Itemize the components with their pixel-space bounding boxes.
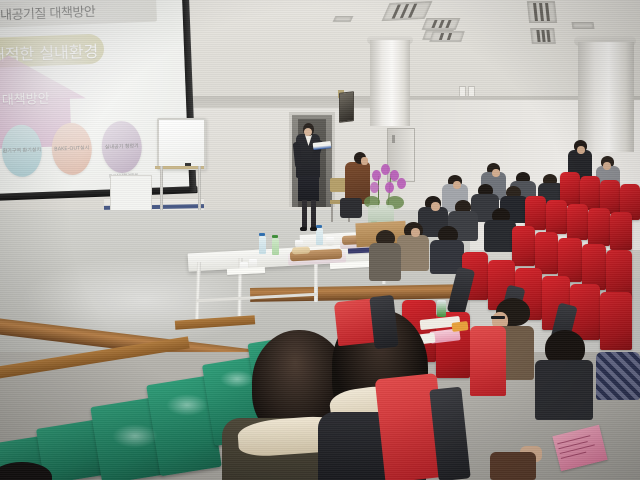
auditorium-seat[interactable]	[512, 226, 535, 266]
slide-header-bar: 실내공기질 대책방안	[0, 0, 157, 29]
chair-leg	[331, 204, 333, 222]
presenter-shoe	[310, 227, 317, 231]
auditorium-seat[interactable]	[600, 292, 632, 350]
slide-oval-2-label: 환기구역 환기설치	[3, 147, 42, 155]
auditorium-seat[interactable]	[610, 212, 632, 250]
slide-oval-4: 실내공기 청정기	[101, 120, 143, 173]
auditorium-seat[interactable]	[567, 204, 588, 240]
audience-torso	[535, 360, 593, 420]
audience-torso	[369, 243, 401, 281]
orchid-petal	[381, 164, 390, 175]
slide-oval-3-label: BAKE-OUT실시	[54, 145, 89, 153]
presenter-shoe	[300, 227, 307, 231]
secondary-board	[110, 175, 152, 213]
drink-can[interactable]	[437, 300, 446, 317]
column-right	[578, 42, 634, 152]
projection-screen-assembly: 실내공기질 대책방안 쾌적한 실내환경 실내공기질 대책방안 오염원 관리 환기…	[0, 0, 205, 213]
presenter-skirt	[298, 176, 319, 201]
wall-switch-plate[interactable]	[468, 86, 475, 97]
auditorium-seat[interactable]	[525, 196, 546, 230]
orchid-petal	[370, 182, 379, 193]
auditorium-seat[interactable]	[546, 200, 567, 234]
auditorium-seat[interactable]	[606, 250, 632, 298]
whiteboard-marker[interactable]	[185, 163, 191, 166]
audience-sleeve	[490, 452, 536, 480]
ceiling-light-fixture	[422, 18, 461, 30]
bottle-cap	[272, 235, 278, 238]
orchid-petal	[372, 170, 381, 181]
seated-person-legs	[340, 198, 362, 218]
water-bottle[interactable]	[272, 238, 279, 255]
ceiling-light-fixture	[572, 22, 595, 29]
seat-wear-mark	[220, 370, 254, 388]
ceiling-light-fixture	[333, 16, 354, 22]
water-bottle[interactable]	[259, 236, 266, 254]
presenter-face	[304, 128, 312, 136]
auditorium-seat[interactable]	[470, 326, 506, 396]
ceiling-light-fixture	[530, 28, 556, 44]
wall-switch-plate[interactable]	[459, 86, 466, 97]
seated-person-face	[361, 157, 368, 165]
audience-torso	[397, 235, 429, 271]
wall-speaker	[339, 91, 354, 123]
bottle-cap	[259, 233, 265, 236]
orchid-petal	[397, 178, 406, 189]
cabinet-hinge	[392, 135, 395, 143]
auditorium-seat[interactable]	[588, 208, 610, 246]
snack-pack[interactable]	[452, 321, 469, 332]
presenter-leg	[311, 200, 316, 228]
audience-face	[577, 146, 585, 154]
audience-face	[431, 202, 440, 211]
audience-face	[411, 228, 420, 237]
food-items	[292, 246, 310, 254]
presenter-leg	[302, 200, 307, 228]
audience-face	[453, 181, 461, 189]
eyeglasses	[491, 316, 505, 319]
auditorium-photograph: 발표회 표회 국대학교 환경공학과 실내공기질 대책방안 쾌적한 실내환경 실내…	[0, 0, 640, 480]
slide-header-text: 실내공기질 대책방안	[0, 1, 96, 24]
water-bottle[interactable]	[316, 228, 323, 245]
patterned-bag[interactable]	[596, 352, 640, 400]
whiteboard	[157, 118, 206, 170]
seat-wear-mark	[112, 424, 158, 448]
orchid-petal	[385, 182, 394, 193]
ceiling-light-fixture	[527, 1, 557, 23]
ceiling-light-fixture	[429, 31, 465, 42]
seat-wear-mark	[166, 394, 208, 416]
ceiling-light-fixture	[382, 1, 433, 21]
audience-face	[603, 162, 611, 170]
column-left	[370, 40, 410, 126]
audience-face	[492, 169, 500, 177]
slide-oval-4-label: 실내공기 청정기	[105, 143, 139, 151]
paper-cup[interactable]	[326, 237, 334, 246]
